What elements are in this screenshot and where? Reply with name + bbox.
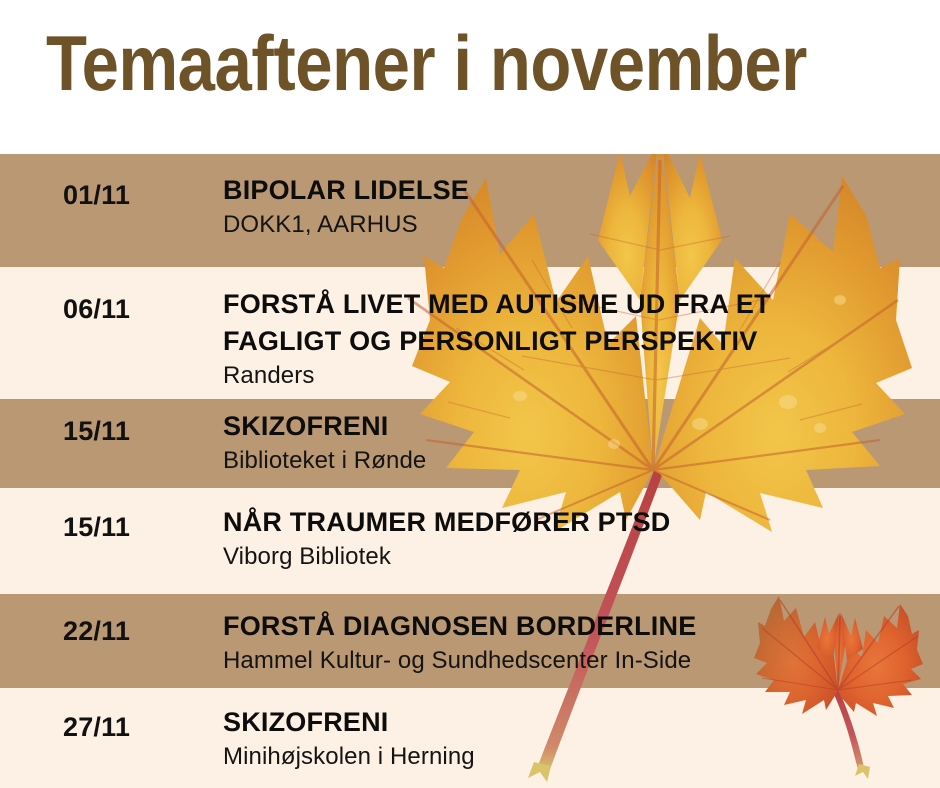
event-location: Biblioteket i Rønde [223,445,930,477]
event-date: 15/11 [63,416,130,447]
event-title: FORSTÅ LIVET MED AUTISME UD FRA ET FAGLI… [223,286,930,360]
schedule-row[interactable]: 15/11 SKIZOFRENI Biblioteket i Rønde [0,399,940,488]
event-text-block: SKIZOFRENI Minihøjskolen i Herning [223,704,930,773]
event-location: Minihøjskolen i Herning [223,741,930,773]
event-title: FORSTÅ DIAGNOSEN BORDERLINE [223,608,930,645]
page-title: Temaaftener i november [46,22,786,104]
event-text-block: BIPOLAR LIDELSE DOKK1, AARHUS [223,172,930,241]
poster: Temaaftener i november 01/11 BIPOLAR LID… [0,0,940,788]
event-text-block: FORSTÅ LIVET MED AUTISME UD FRA ET FAGLI… [223,286,930,392]
schedule-row[interactable]: 06/11 FORSTÅ LIVET MED AUTISME UD FRA ET… [0,267,940,399]
event-text-block: FORSTÅ DIAGNOSEN BORDERLINE Hammel Kultu… [223,608,930,677]
event-date: 15/11 [63,512,130,543]
event-text-block: SKIZOFRENI Biblioteket i Rønde [223,408,930,477]
schedule-row[interactable]: 01/11 BIPOLAR LIDELSE DOKK1, AARHUS [0,154,940,267]
poster-header: Temaaftener i november [0,0,940,154]
event-location: Viborg Bibliotek [223,541,930,573]
event-date: 27/11 [63,712,130,743]
schedule-row[interactable]: 22/11 FORSTÅ DIAGNOSEN BORDERLINE Hammel… [0,594,940,688]
event-title: BIPOLAR LIDELSE [223,172,930,209]
event-text-block: NÅR TRAUMER MEDFØRER PTSD Viborg Bibliot… [223,504,930,573]
schedule-row[interactable]: 15/11 NÅR TRAUMER MEDFØRER PTSD Viborg B… [0,488,940,594]
event-location: Hammel Kultur- og Sundhedscenter In-Side [223,645,930,677]
event-title: SKIZOFRENI [223,704,930,741]
event-title: NÅR TRAUMER MEDFØRER PTSD [223,504,930,541]
event-date: 06/11 [63,294,130,325]
event-location: Randers [223,360,930,392]
event-date: 01/11 [63,180,130,211]
event-location: DOKK1, AARHUS [223,209,930,241]
event-date: 22/11 [63,616,130,647]
schedule-row[interactable]: 27/11 SKIZOFRENI Minihøjskolen i Herning [0,688,940,788]
event-title: SKIZOFRENI [223,408,930,445]
